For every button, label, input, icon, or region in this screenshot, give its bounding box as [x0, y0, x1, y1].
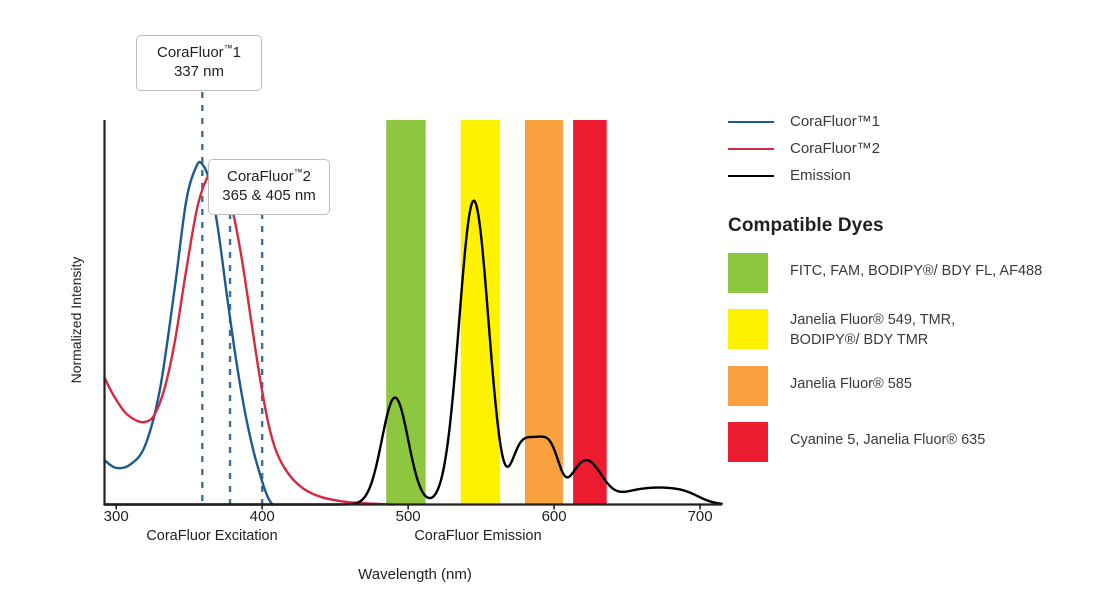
dye-color-swatch-icon — [728, 366, 768, 406]
dye-color-swatch-icon — [728, 422, 768, 462]
trademark-symbol: ™ — [294, 167, 303, 177]
dye-band-3 — [573, 120, 607, 505]
curve-excitation-d42a42 — [105, 169, 394, 505]
y-axis-title: Normalized Intensity — [68, 220, 84, 420]
trademark-symbol: ™ — [224, 43, 233, 53]
dye-item-label: Janelia Fluor® 549, TMR, BODIPY®/ BDY TM… — [790, 309, 955, 350]
callout-corafluor-1-value: 337 nm — [147, 63, 251, 82]
excitation-marker-lines — [202, 92, 262, 505]
dye-band-1 — [461, 120, 500, 505]
fluorescence-spectra-figure: CoraFluor™1 337 nm CoraFluor™2 365 & 405… — [0, 0, 1110, 612]
dye-band-2 — [525, 120, 563, 505]
dye-color-swatch-icon — [728, 309, 768, 349]
x-axis-title: Wavelength (nm) — [0, 566, 830, 583]
legend-item-0: CoraFluor™1 — [728, 108, 1098, 135]
dye-color-swatch-icon — [728, 253, 768, 293]
callout-corafluor-2: CoraFluor™2 365 & 405 nm — [208, 159, 330, 215]
series-legend: CoraFluor™1CoraFluor™2Emission — [728, 108, 1098, 189]
dye-item-label: Cyanine 5, Janelia Fluor® 635 — [790, 422, 985, 451]
legend-item-label: CoraFluor™1 — [790, 113, 880, 130]
legend-item-label: CoraFluor™2 — [790, 140, 880, 157]
x-tick-600: 600 — [524, 508, 584, 525]
legend-item-1: CoraFluor™2 — [728, 135, 1098, 162]
legend-line-swatch-icon — [728, 175, 774, 177]
callout-corafluor-1-title: CoraFluor™1 — [147, 43, 251, 63]
dye-item-0: FITC, FAM, BODIPY®/ BDY FL, AF488 — [728, 253, 1098, 293]
x-tick-500: 500 — [378, 508, 438, 525]
dye-item-3: Cyanine 5, Janelia Fluor® 635 — [728, 422, 1098, 462]
legend-line-swatch-icon — [728, 121, 774, 123]
dye-item-label: FITC, FAM, BODIPY®/ BDY FL, AF488 — [790, 253, 1042, 282]
x-tick-300: 300 — [86, 508, 146, 525]
dye-item-2: Janelia Fluor® 585 — [728, 366, 1098, 406]
dye-item-label: Janelia Fluor® 585 — [790, 366, 912, 395]
compatible-dyes-list: FITC, FAM, BODIPY®/ BDY FL, AF488Janelia… — [728, 253, 1098, 462]
x-tick-700: 700 — [670, 508, 730, 525]
callout-corafluor-2-title: CoraFluor™2 — [219, 167, 319, 187]
dye-item-1: Janelia Fluor® 549, TMR, BODIPY®/ BDY TM… — [728, 309, 1098, 350]
legend-line-swatch-icon — [728, 148, 774, 150]
compatible-dye-bands — [386, 120, 606, 505]
legend-and-dye-panel: CoraFluor™1CoraFluor™2Emission Compatibl… — [728, 108, 1098, 478]
legend-item-2: Emission — [728, 162, 1098, 189]
region-label-emission: CoraFluor Emission — [368, 528, 588, 544]
x-tick-400: 400 — [232, 508, 292, 525]
legend-item-label: Emission — [790, 167, 851, 184]
callout-corafluor-2-value: 365 & 405 nm — [219, 187, 319, 206]
dye-band-0 — [386, 120, 425, 505]
callout-corafluor-1: CoraFluor™1 337 nm — [136, 35, 262, 91]
compatible-dyes-heading: Compatible Dyes — [728, 215, 1098, 237]
region-label-excitation: CoraFluor Excitation — [102, 528, 322, 544]
